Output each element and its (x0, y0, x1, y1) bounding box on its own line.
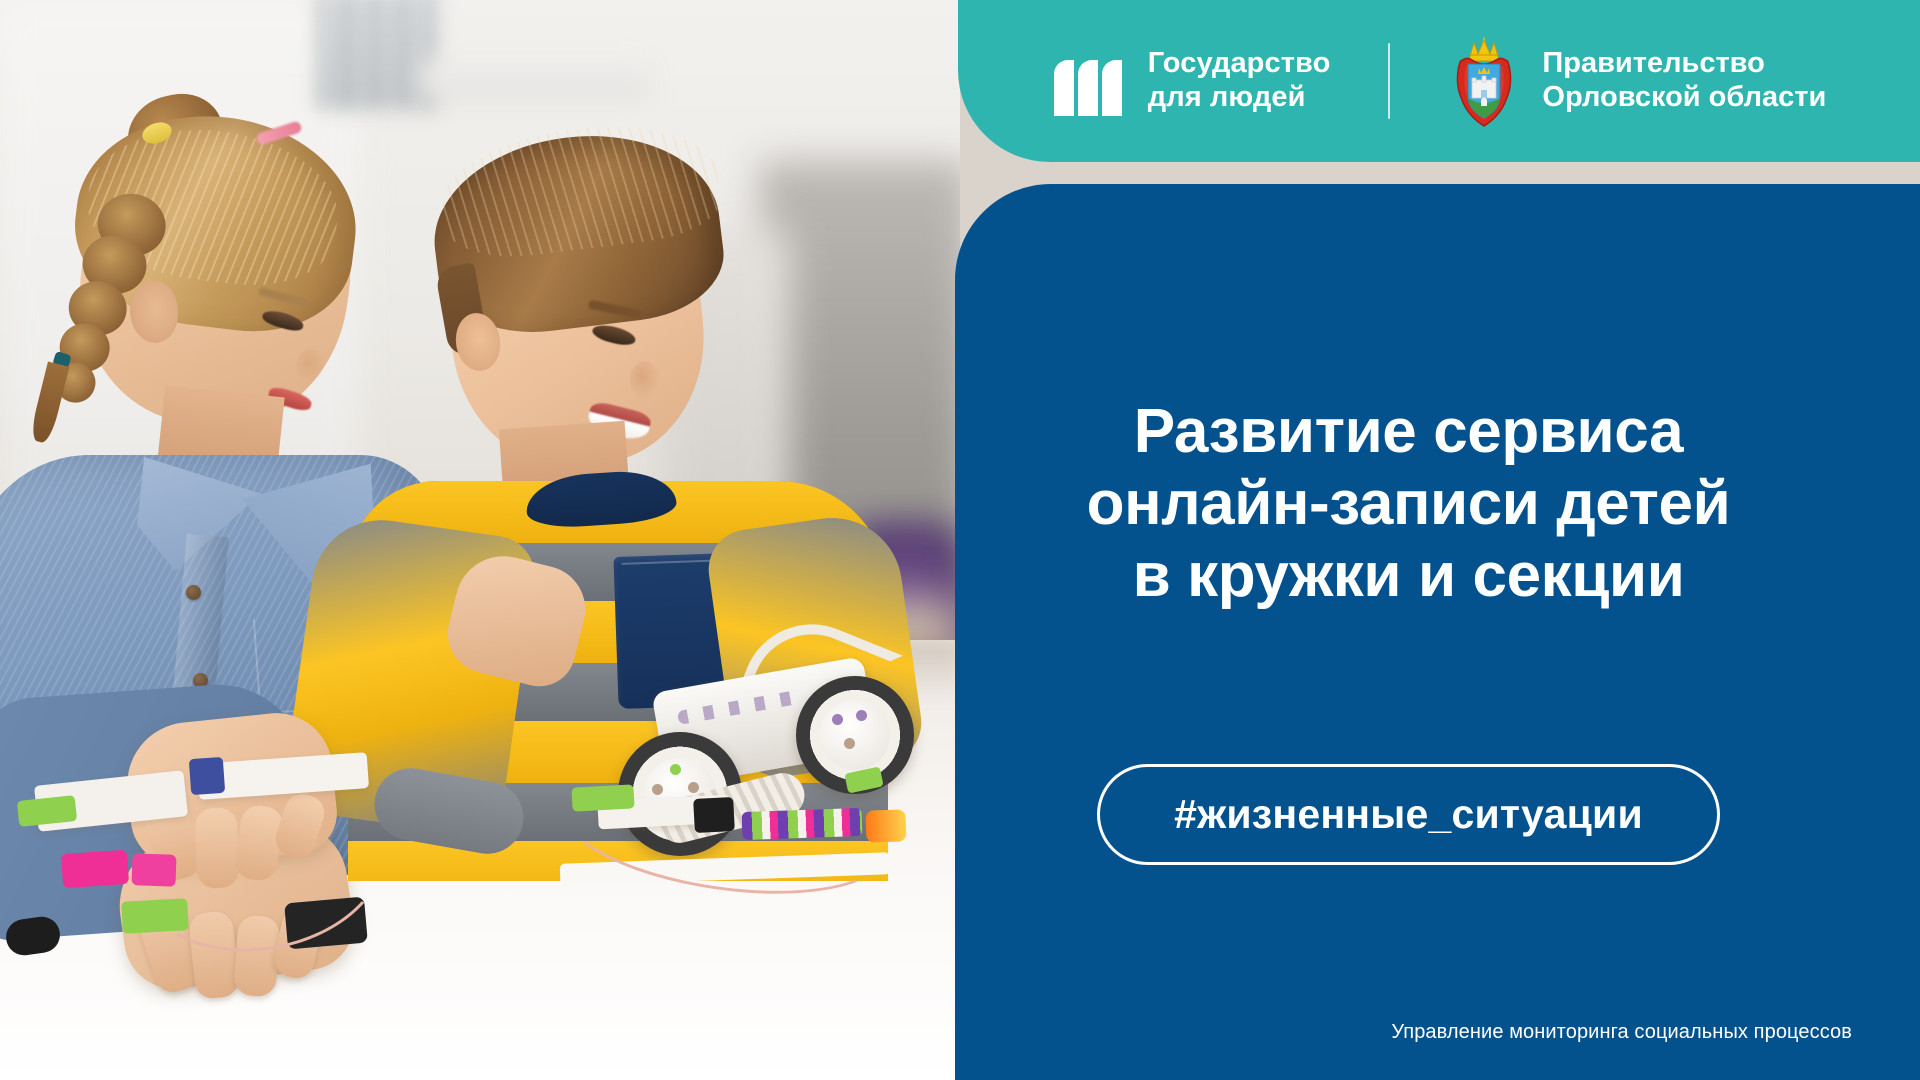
brand-label: Государство для людей (1148, 47, 1331, 114)
page-title: Развитие сервиса онлайн-записи детей в к… (955, 396, 1862, 612)
headline-line-1: Развитие сервиса (955, 396, 1862, 468)
component-pink-clip (61, 850, 129, 889)
header-divider (1388, 43, 1390, 119)
hashtag-container: #жизненные_ситуации (955, 764, 1862, 865)
headline-line-3: в кружки и секции (955, 540, 1862, 612)
header-teal-panel: Государство для людей (958, 0, 1920, 162)
oryol-oblast-coat-of-arms-icon (1448, 34, 1520, 128)
three-arcs-logo-icon (1052, 44, 1126, 118)
component-wire (553, 748, 896, 913)
component-black-knob (4, 914, 62, 957)
poster-canvas: Государство для людей (0, 0, 1920, 1080)
headline-line-2: онлайн-записи детей (955, 468, 1862, 540)
hashtag-button[interactable]: #жизненные_ситуации (1097, 764, 1720, 865)
brand-government[interactable]: Правительство Орловской области (1448, 34, 1826, 128)
government-label: Правительство Орловской области (1542, 47, 1826, 114)
main-blue-panel: Развитие сервиса онлайн-записи детей в к… (955, 184, 1920, 1080)
girl-nose (296, 349, 326, 383)
girl-shirt-button (186, 585, 201, 600)
boy-nose (630, 361, 660, 399)
photo-children-building-robot (0, 0, 960, 1080)
footer-credit: Управление мониторинга социальных процес… (1391, 1021, 1852, 1044)
electronic-components (0, 740, 960, 1080)
brand-gosuslugi[interactable]: Государство для людей (1052, 44, 1331, 118)
